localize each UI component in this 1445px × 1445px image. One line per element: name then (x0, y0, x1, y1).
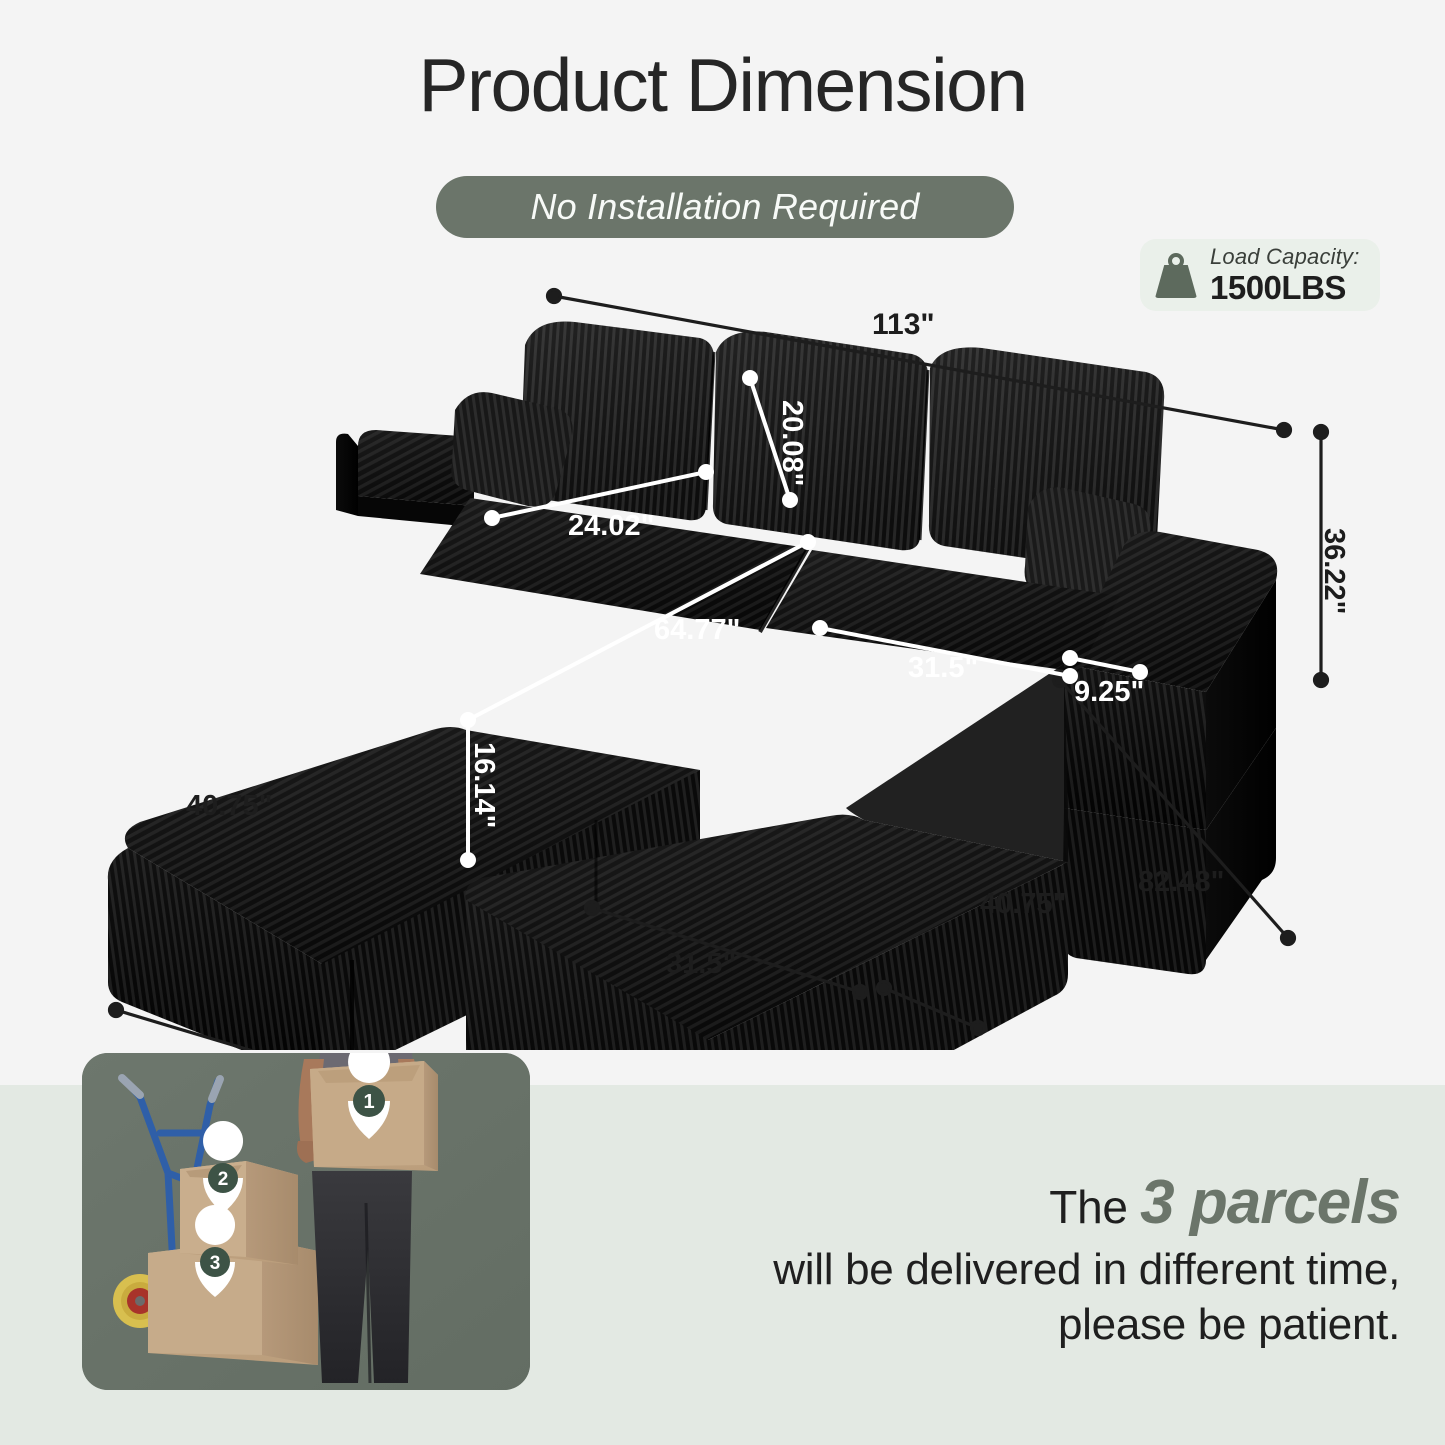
parcel-box-2 (180, 1161, 298, 1265)
no-installation-badge: No Installation Required (436, 176, 1014, 238)
svg-text:1: 1 (363, 1091, 374, 1113)
dimension-label-chaise-depth: 40.75" (186, 792, 272, 821)
dimension-label-seat-depth: 24.02" (568, 512, 654, 541)
parcels-line3: please be patient. (600, 1298, 1400, 1353)
dimension-label-bed-length: 64.77" (654, 616, 740, 645)
accent-pillow-left (451, 392, 572, 507)
dimension-label-module-width: 31.5" (666, 950, 736, 979)
sofa-illustration (0, 260, 1445, 1050)
parcels-line2: will be delivered in different time, (600, 1243, 1400, 1298)
svg-text:3: 3 (210, 1253, 221, 1274)
dimension-label-seat-height: 16.14" (469, 742, 498, 828)
no-installation-badge-label: No Installation Required (530, 186, 919, 228)
parcels-photo: 1 2 3 (82, 1053, 530, 1390)
parcels-photo-graphic: 1 2 3 (82, 1053, 530, 1390)
parcels-count-highlight: 3 parcels (1140, 1168, 1400, 1237)
infographic-canvas: Product Dimension No Installation Requir… (0, 0, 1445, 1445)
dimension-label-side-depth: 40.75" (980, 890, 1066, 919)
dimension-label-overall-width: 113" (872, 310, 935, 340)
page-title: Product Dimension (0, 48, 1445, 123)
svg-text:2: 2 (218, 1169, 229, 1190)
parcels-line1-prefix: The (1049, 1181, 1127, 1233)
dimension-label-overall-depth: 82.48" (1138, 868, 1224, 897)
dimension-label-back-cushion-height: 20.08" (777, 400, 806, 486)
dimension-label-overall-height: 36.22" (1319, 528, 1348, 614)
dimension-label-seat-width: 31.5" (908, 654, 978, 683)
dimension-label-arm-width: 9.25" (1074, 678, 1144, 707)
parcels-message: The 3 parcels will be delivered in diffe… (600, 1168, 1400, 1353)
